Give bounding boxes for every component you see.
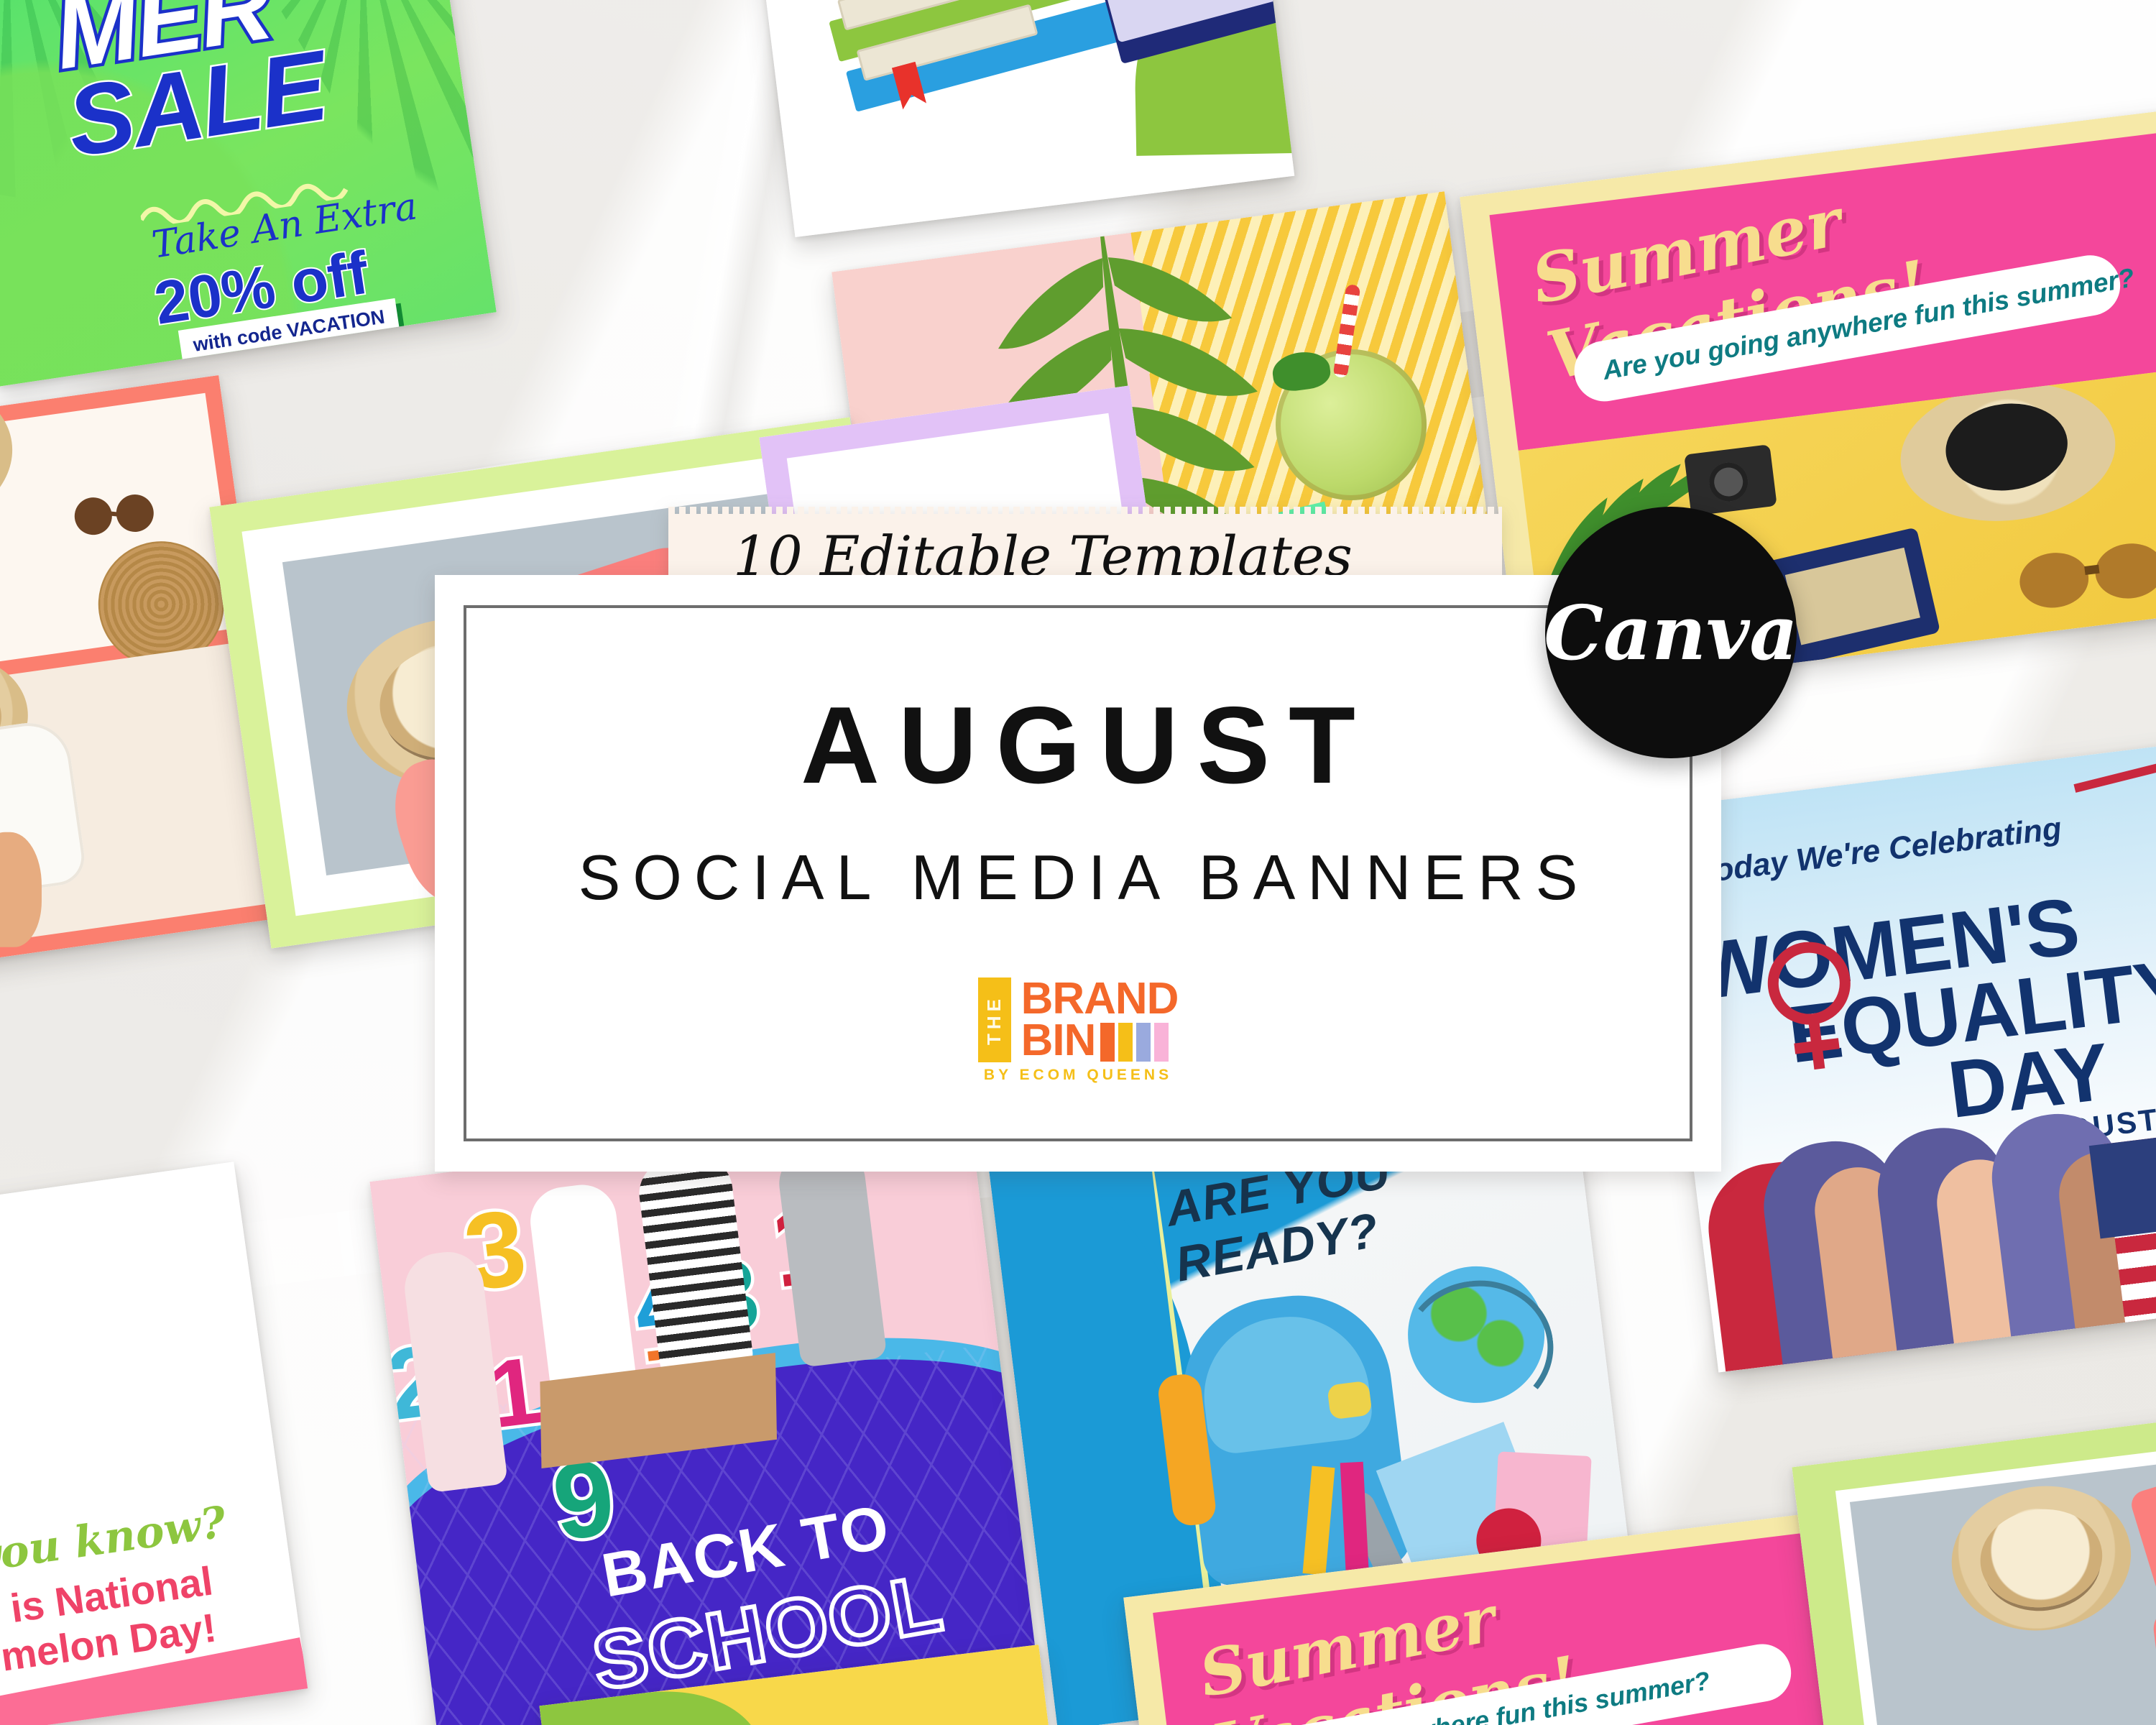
main-title-panel: AUGUST SOCIAL MEDIA BANNERS THE BRAND BI… bbox=[435, 575, 1721, 1172]
backpack-buckle bbox=[1327, 1381, 1372, 1420]
logo-color-bars bbox=[1100, 1023, 1169, 1062]
logo-the-box: THE bbox=[978, 977, 1011, 1062]
flatlay-photo bbox=[1850, 1453, 2156, 1725]
logo-bar-blue bbox=[1136, 1023, 1151, 1062]
straw-hat-icon bbox=[1943, 1476, 2139, 1641]
bikini-top-icon bbox=[2128, 1455, 2156, 1606]
template-card-womens-equality[interactable]: Today We're Celebrating WOMEN'S EQUALITY… bbox=[1649, 734, 2156, 1373]
mockup-canvas: MER SALE Take An Extra 20% off with code… bbox=[0, 0, 2156, 1725]
flag-canton bbox=[2089, 1132, 2156, 1239]
template-card-back-to-school[interactable]: 3 2 1 6 4 3 1 0 7 9 BACK TO SCHOOL bbox=[369, 1108, 1038, 1725]
sunglasses-icon bbox=[68, 484, 160, 541]
logo-bar-orange bbox=[1100, 1023, 1115, 1062]
page-title: AUGUST bbox=[435, 683, 1721, 809]
page-subtitle: SOCIAL MEDIA BANNERS bbox=[435, 841, 1721, 914]
logo-bar-yellow bbox=[1118, 1023, 1133, 1062]
canva-badge[interactable]: Canva bbox=[1545, 507, 1797, 758]
venus-symbol-icon bbox=[1761, 934, 1862, 1080]
canva-label: Canva bbox=[1544, 589, 1798, 677]
logo-bar-pink bbox=[1154, 1023, 1169, 1062]
logo-bin-text: BIN bbox=[1021, 1020, 1096, 1062]
logo-byline: BY ECOM QUEENS bbox=[984, 1067, 1172, 1084]
flatlay-photo bbox=[0, 393, 238, 684]
bikini-bottom-icon bbox=[2151, 1593, 2156, 1725]
logo-brand-text: BRAND bbox=[1021, 978, 1179, 1020]
sunglasses-icon bbox=[2012, 525, 2156, 622]
logo-the-text: THE bbox=[983, 995, 1005, 1045]
brand-bin-logo: THE BRAND BIN BY ECOM QUEENS bbox=[435, 977, 1721, 1084]
sale-headline: MER SALE bbox=[50, 0, 331, 165]
